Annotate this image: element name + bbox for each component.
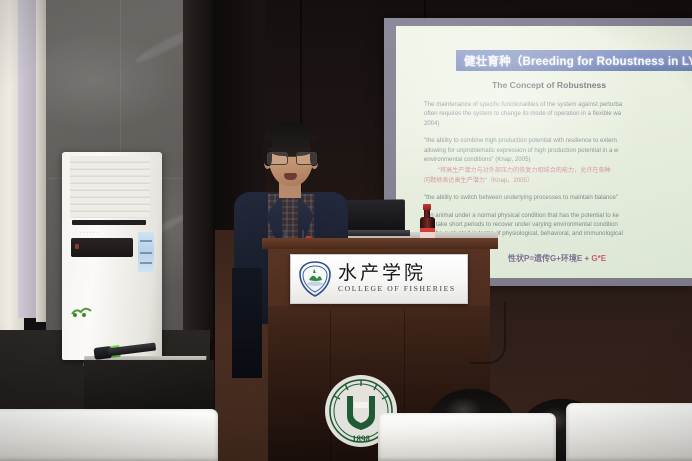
cola-bottle-cap — [423, 204, 431, 210]
air-conditioner: · · · · · · — [62, 152, 162, 360]
air-conditioner-sticker — [71, 304, 95, 318]
slide-line-red: “将高生产潜力与对外部压力的恢复力相结合的能力，允许在各种 — [424, 166, 692, 175]
slide-line: and take short periods to recover under … — [424, 220, 692, 229]
slide-body: The maintenance of specific functionalit… — [424, 100, 692, 247]
chair-back — [566, 403, 692, 461]
slide-line: often requires the system to change its … — [424, 109, 692, 118]
slide-line-red: 问题地表达高生产潜力”（Knap，2005） — [424, 176, 692, 185]
glasses-lens-right — [296, 152, 317, 165]
slide-title: 健壮育种（Breeding for Robustness in LYC — [464, 53, 692, 69]
slide-formula-main: 性状P=遗传G+环境E + — [508, 254, 589, 263]
air-conditioner-display — [71, 238, 133, 257]
slide-line: "An animal under a normal physical condi… — [424, 211, 692, 220]
podium-sign-chinese: 水产学院 — [338, 264, 456, 284]
audio-cable — [470, 302, 506, 364]
presenter-mouth — [284, 173, 297, 180]
lectern-top-edge — [262, 238, 498, 249]
glasses-bridge — [286, 156, 296, 157]
wall-shadow-edge — [183, 0, 213, 340]
air-conditioner-indicator — [75, 244, 79, 249]
cola-bottle-neck — [424, 209, 430, 218]
slide-line: "the ability to combine high production … — [424, 136, 692, 145]
air-conditioner-control-panel[interactable] — [138, 232, 154, 272]
glasses-icon — [266, 152, 316, 164]
podium-sign-english: COLLEGE OF FISHERIES — [338, 284, 456, 294]
presenter-arm-shadow — [232, 268, 262, 378]
slide-line: 2004) — [424, 119, 692, 128]
air-conditioner-brand-text: · · · · · · — [80, 230, 98, 235]
glasses-lens-left — [267, 152, 288, 165]
slide-formula: 性状P=遗传G+环境E + G*E — [508, 253, 606, 264]
slide-line: The maintenance of specific functionalit… — [424, 100, 692, 109]
podium-sign: 水产学院 COLLEGE OF FISHERIES — [290, 254, 468, 304]
slide-line: "the ability to switch between underlyin… — [424, 193, 692, 202]
fisheries-shield-logo — [297, 260, 333, 298]
slide-formula-accent: G*E — [591, 254, 606, 263]
slide-title-bar: 健壮育种（Breeding for Robustness in LYC — [456, 50, 692, 71]
air-conditioner-grille — [70, 156, 150, 218]
pillar-edge — [36, 0, 46, 322]
slide-line: environmental conditions" (Knap, 2005) — [424, 155, 692, 164]
slide-subtitle: The Concept of Robustness — [492, 80, 606, 90]
presentation-photo: 健壮育种（Breeding for Robustness in LYC The … — [0, 0, 692, 461]
slide-line: allowing for unproblematic expression of… — [424, 146, 692, 155]
air-conditioner-vent — [72, 220, 146, 225]
podium-sign-text: 水产学院 COLLEGE OF FISHERIES — [338, 264, 456, 294]
chair-back — [378, 413, 556, 461]
chair-back — [0, 409, 218, 461]
emblem-year: 1898 — [352, 434, 371, 444]
